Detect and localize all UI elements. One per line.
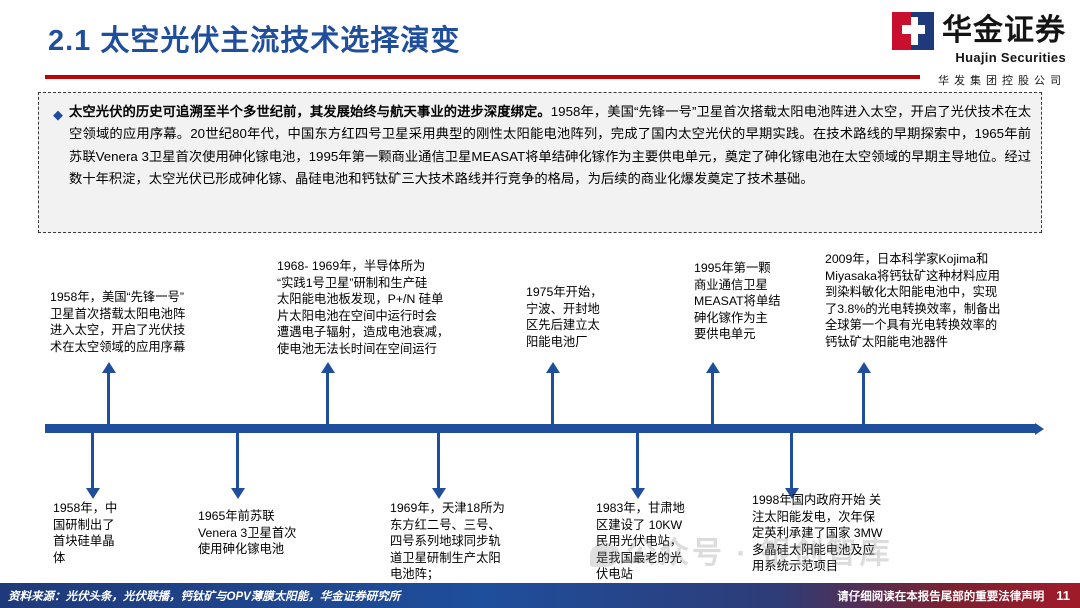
timeline-tick-up-4 [711,372,714,428]
footer-page-number: 11 [1056,588,1070,603]
timeline-event-below-5: 1998年国内政府开始 关 注太阳能发电，次年保 定英利承建了国家 3MW 多晶… [752,492,920,575]
timeline-event-above-4: 1995年第一颗 商业通信卫星 MEASAT将单结 砷化镓作为主 要供电单元 [694,260,806,343]
huajin-mark-icon [892,12,934,50]
timeline-tick-down-2 [236,433,239,489]
timeline-tick-down-5 [790,433,793,489]
timeline-tick-up-5 [862,372,865,428]
logo-chinese-name: 华金证券 [942,14,1066,48]
timeline-event-below-1: 1958年，中 国研制出了 首块硅单晶 体 [53,500,153,566]
timeline-tick-up-3 [551,372,554,428]
timeline-event-below-2: 1965年前苏联 Venera 3卫星首次 使用砷化镓电池 [198,508,338,558]
timeline-tick-up-2 [326,372,329,428]
title-underline-rule [45,75,920,79]
summary-callout-box: ◆ 太空光伏的历史可追溯至半个多世纪前，其发展始终与航天事业的进步深度绑定。19… [38,92,1042,233]
timeline-event-above-5: 2009年，日本科学家Kojima和 Miyasaka将钙钛矿这种材料应用 到染… [825,251,1045,351]
footer-right-group: 请仔细阅读在本报告尾部的重要法律声明 11 [837,588,1070,604]
slide-footer: 资料来源：光伏头条，光伏联播，钙钛矿与OPV薄膜太阳能，华金证券研究所 请仔细阅… [0,583,1080,608]
timeline-event-below-3: 1969年，天津18所为 东方红二号、三号、 四号系列地球同步轨 道卫星研制生产… [390,500,540,583]
timeline-tick-up-1 [107,372,110,428]
timeline-event-above-1: 1958年，美国“先锋一号” 卫星首次搭载太阳电池阵 进入太空，开启了光伏技 术… [50,289,260,355]
summary-paragraph: 太空光伏的历史可追溯至半个多世纪前，其发展始终与航天事业的进步深度绑定。1958… [69,101,1031,224]
timeline-event-below-4: 1983年，甘肃地 区建设了 10KW 民用光伏电站， 是我国最老的光 伏电站 [596,500,716,583]
timeline-axis [45,424,1037,433]
timeline-tick-down-1 [91,433,94,489]
logo-primary-row: 华金证券 [856,10,1066,52]
timeline-event-above-3: 1975年开始， 宁波、开封地 区先后建立太 阳能电池厂 [526,284,636,350]
bullet-diamond-icon: ◆ [47,101,69,224]
slide-canvas: 2.1 太空光伏主流技术选择演变 华金证券 Huajin Securities … [0,0,1080,608]
timeline-tick-down-4 [636,433,639,489]
logo-english-name: Huajin Securities [856,50,1066,65]
footer-source-text: 资料来源：光伏头条，光伏联播，钙钛矿与OPV薄膜太阳能，华金证券研究所 [8,588,400,604]
footer-legal-notice: 请仔细阅读在本报告尾部的重要法律声明 [837,588,1044,604]
timeline-event-above-2: 1968- 1969年，半导体所为 “实践1号卫星”研制和生产硅 太阳能电池板发… [277,258,509,358]
summary-lead-sentence: 太空光伏的历史可追溯至半个多世纪前，其发展始终与航天事业的进步深度绑定。 [69,104,551,119]
company-logo: 华金证券 Huajin Securities 华发集团控股公司 [856,10,1066,88]
timeline-tick-down-3 [437,433,440,489]
page-title: 2.1 太空光伏主流技术选择演变 [48,17,460,59]
logo-parent-company: 华发集团控股公司 [856,72,1066,88]
